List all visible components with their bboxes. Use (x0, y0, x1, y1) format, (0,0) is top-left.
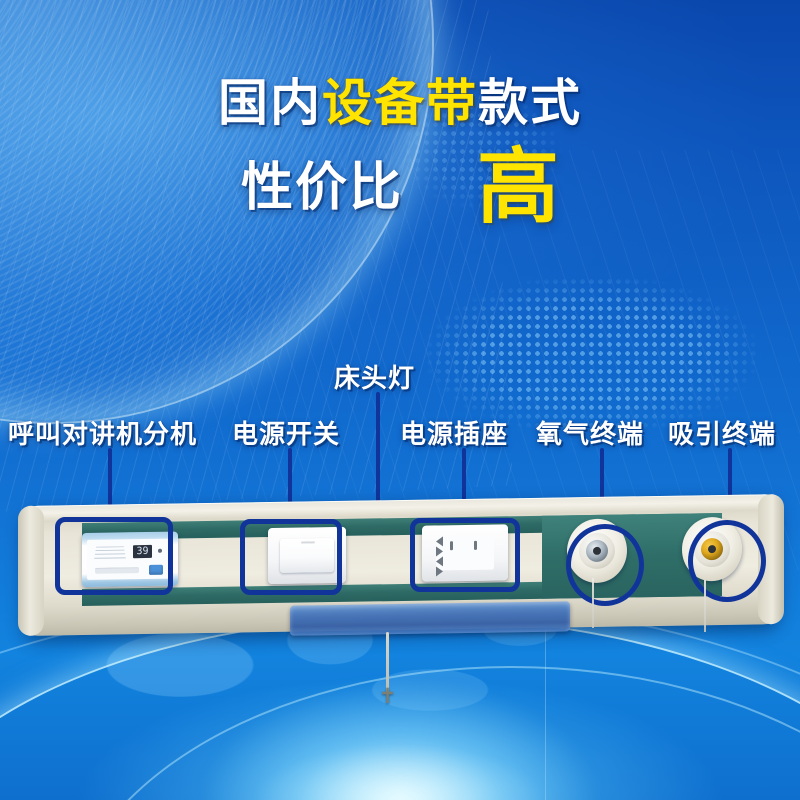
headline-line-2: 性价比高 (0, 150, 800, 225)
callout-label-power-switch: 电源开关 (232, 414, 340, 451)
callout-label-suction-terminal: 吸引终端 (668, 414, 776, 451)
callout-label-oxygen-terminal: 氧气终端 (536, 414, 644, 451)
highlight-circle-oxygen-terminal (566, 524, 644, 606)
callout-label-power-socket: 电源插座 (400, 414, 508, 451)
headline-line-1: 国内设备带款式 (0, 78, 800, 128)
headline-emphasis: 高 (477, 150, 559, 225)
headline-block: 国内设备带款式 性价比高 (0, 78, 800, 238)
callout-label-nurse-call-intercom: 呼叫对讲机分机 (8, 414, 197, 451)
highlight-box-power-switch (240, 519, 342, 595)
bed-head-lamp (290, 601, 570, 635)
headline-line1-part1: 国内 (218, 75, 322, 131)
suction-terminal-cord (704, 580, 706, 632)
headline-line1-part2: 款式 (478, 75, 582, 131)
callout-label-bed-head-lamp: 床头灯 (334, 358, 415, 395)
panel-end-cap-left (18, 506, 44, 636)
highlight-box-power-socket (410, 518, 520, 592)
oxygen-terminal-cord (592, 578, 594, 628)
product-poster: 国内设备带款式 性价比高 呼叫对讲机分机 电源开关 床头灯 电源插座 氧气终端 … (0, 0, 800, 800)
headline-line1-accent: 设备带 (322, 75, 478, 131)
headline-subtitle: 性价比 (241, 162, 403, 214)
highlight-circle-suction-terminal (688, 520, 766, 602)
lamp-pull-handle-icon: ✝ (378, 686, 397, 708)
highlight-box-nurse-call-intercom (55, 517, 173, 595)
